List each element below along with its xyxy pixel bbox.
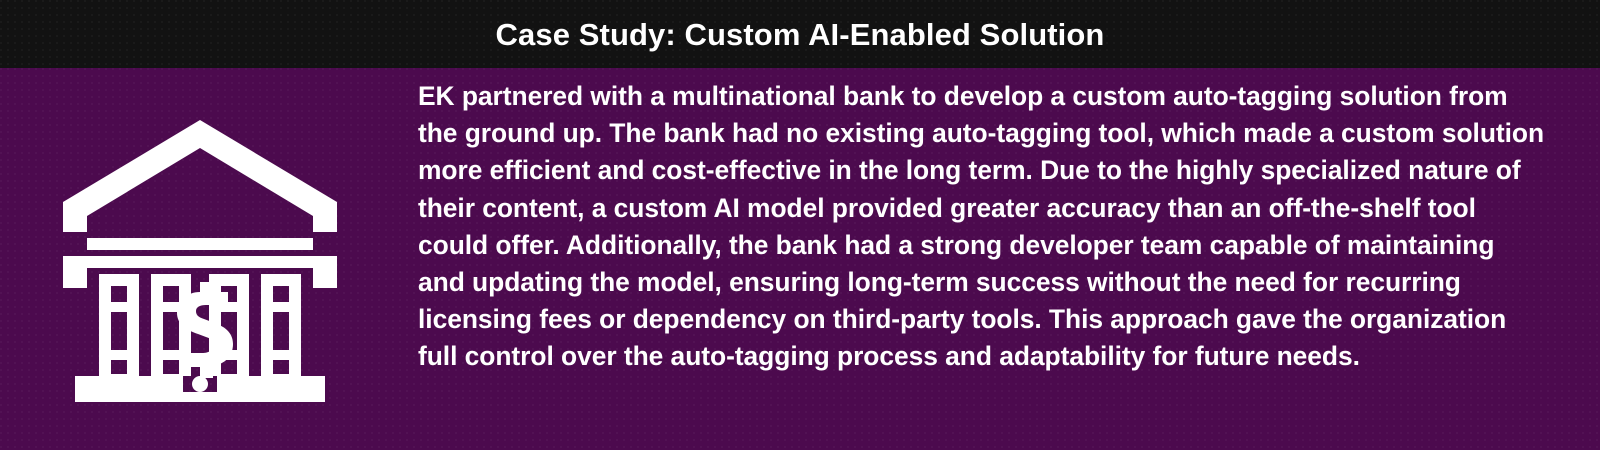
case-study-card: Case Study: Custom AI-Enabled Solution: [0, 0, 1600, 450]
icon-column: [0, 68, 400, 450]
bank-icon: [61, 116, 339, 402]
text-column: EK partnered with a multinational bank t…: [418, 78, 1548, 376]
case-study-paragraph: EK partnered with a multinational bank t…: [418, 78, 1548, 376]
header-bar: Case Study: Custom AI-Enabled Solution: [0, 0, 1600, 68]
page-title: Case Study: Custom AI-Enabled Solution: [496, 19, 1105, 50]
